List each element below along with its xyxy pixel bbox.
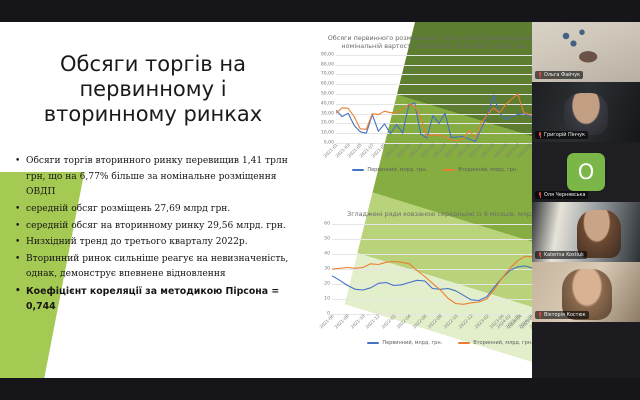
chart-y-tick: 20	[324, 282, 330, 287]
participant-tile-0[interactable]: Ольга Файчук	[532, 22, 640, 82]
list-item: • Вторинний ринок сильніше реагує на нев…	[12, 252, 302, 283]
chart-series-layer	[336, 55, 548, 143]
participant-tile-2[interactable]: О Оля Чернявська	[532, 142, 640, 202]
legend-label: Первинний, млрд. грн.	[367, 167, 427, 173]
chart-y-tick: 50,00	[321, 92, 334, 97]
chart-y-tick: 80,00	[321, 62, 334, 67]
participant-tile-3[interactable]: Katerina Kostiuk	[532, 202, 640, 262]
list-item: • Обсяги торгів вторинного ринку перевищ…	[12, 154, 302, 201]
zoom-meeting-screen: Обсяги торгів на первинному і вторинному…	[0, 0, 640, 400]
participant-name: Katerina Kostiuk	[544, 252, 584, 258]
legend-item-secondary: Вторинний, млрд. грн.	[443, 167, 517, 173]
chart-y-tick: 40,00	[321, 101, 334, 106]
chart-y-tick: 40	[324, 252, 330, 257]
chart-y-tick: 30,00	[321, 111, 334, 116]
legend-item-secondary: Вторинний, млрд. грн.	[458, 340, 532, 346]
list-item-label: середній обсяг на вторинному ринку 29,56…	[26, 221, 286, 231]
participant-name: Григорій Пінчук	[544, 132, 585, 138]
chart-y-tick: 10	[324, 297, 330, 302]
participant-name-badge: Ольга Файчук	[535, 71, 583, 79]
list-item-label: Коефіцієнт кореляції за методикою Пірсон…	[26, 286, 279, 312]
bullet-glyph: •	[15, 235, 20, 250]
chart-y-tick: 60,00	[321, 82, 334, 87]
participant-name: Оля Чернявська	[544, 192, 585, 198]
chart-plot-area: 0,0010,0020,0030,0040,0050,0060,0070,008…	[336, 55, 548, 143]
chart-y-tick: 60	[324, 222, 330, 227]
list-item: • середній обсяг розміщень 27,69 млрд гр…	[12, 202, 302, 218]
bullet-glyph: •	[15, 202, 20, 217]
microphone-icon	[538, 252, 542, 258]
legend-label: Вторинний, млрд. грн.	[473, 340, 532, 346]
legend-label: Вторинний, млрд. грн.	[458, 167, 517, 173]
legend-swatch-icon	[443, 169, 455, 171]
chart-series-line-0	[332, 264, 564, 301]
bullet-glyph: •	[15, 252, 20, 267]
chart-plot-area: 01020304050602021-062021-082021-102021-1…	[332, 224, 564, 314]
chart-series-layer	[332, 224, 564, 314]
bullet-glyph: •	[15, 284, 21, 298]
participant-name: Вікторія Костюк	[544, 312, 586, 318]
participant-name-badge: Григорій Пінчук	[535, 131, 588, 139]
participant-name-badge: Katerina Kostiuk	[535, 251, 587, 259]
chart-y-tick: 90,00	[321, 52, 334, 57]
participant-video-strip[interactable]: Ольга Файчук Григорій Пінчук О Оля Черня…	[532, 22, 640, 378]
chart-series-line-0	[336, 95, 548, 141]
list-item-label: середній обсяг розміщень 27,69 млрд грн.	[26, 204, 230, 214]
participant-name-badge: Оля Чернявська	[535, 191, 588, 199]
microphone-icon	[538, 132, 542, 138]
bullet-list-items: • Обсяги торгів вторинного ринку перевищ…	[12, 154, 302, 314]
chart-legend: Первинний, млрд. грн. Вторинний, млрд. г…	[310, 167, 560, 173]
participant-tile-4[interactable]: Вікторія Костюк	[532, 262, 640, 322]
list-item-label: Вторинний ринок сильніше реагує на невиз…	[26, 254, 288, 280]
microphone-icon	[538, 312, 542, 318]
legend-swatch-icon	[458, 342, 470, 344]
list-item-highlight: • Коефіцієнт кореляції за методикою Пірс…	[12, 284, 302, 314]
chart-y-tick: 10,00	[321, 131, 334, 136]
legend-item-primary: Первинний, млрд. грн.	[367, 340, 442, 346]
legend-item-primary: Первинний, млрд. грн.	[352, 167, 427, 173]
list-item: • середній обсяг на вторинному ринку 29,…	[12, 219, 302, 235]
chart-title: Обсяги первинного розміщення і торгів на…	[310, 34, 560, 51]
bullet-glyph: •	[15, 219, 20, 234]
chart-y-tick: 20,00	[321, 121, 334, 126]
bullet-glyph: •	[15, 154, 20, 169]
avatar: О	[567, 153, 605, 191]
microphone-icon	[538, 192, 542, 198]
legend-label: Первинний, млрд. грн.	[382, 340, 442, 346]
bullet-list: • Обсяги торгів вторинного ринку перевищ…	[12, 154, 302, 315]
microphone-icon	[538, 72, 542, 78]
list-item: • Низхідний тренд до третього кварталу 2…	[12, 235, 302, 251]
letterbox-top	[0, 0, 640, 22]
legend-swatch-icon	[367, 342, 379, 344]
page-title: Обсяги торгів на первинному і вторинному…	[18, 52, 288, 126]
list-item-label: Обсяги торгів вторинного ринку перевищив…	[26, 156, 288, 197]
chart-series-line-1	[332, 257, 564, 305]
participant-name: Ольга Файчук	[544, 72, 580, 78]
chart-y-tick: 70,00	[321, 72, 334, 77]
chart-primary-secondary-monthly: Обсяги первинного розміщення і торгів на…	[310, 34, 560, 173]
participant-tile-1[interactable]: Григорій Пінчук	[532, 82, 640, 142]
chart-y-tick: 50	[324, 237, 330, 242]
legend-swatch-icon	[352, 169, 364, 171]
participant-name-badge: Вікторія Костюк	[535, 311, 589, 319]
list-item-label: Низхідний тренд до третього кварталу 202…	[26, 237, 248, 247]
chart-y-tick: 30	[324, 267, 330, 272]
letterbox-bottom	[0, 378, 640, 400]
